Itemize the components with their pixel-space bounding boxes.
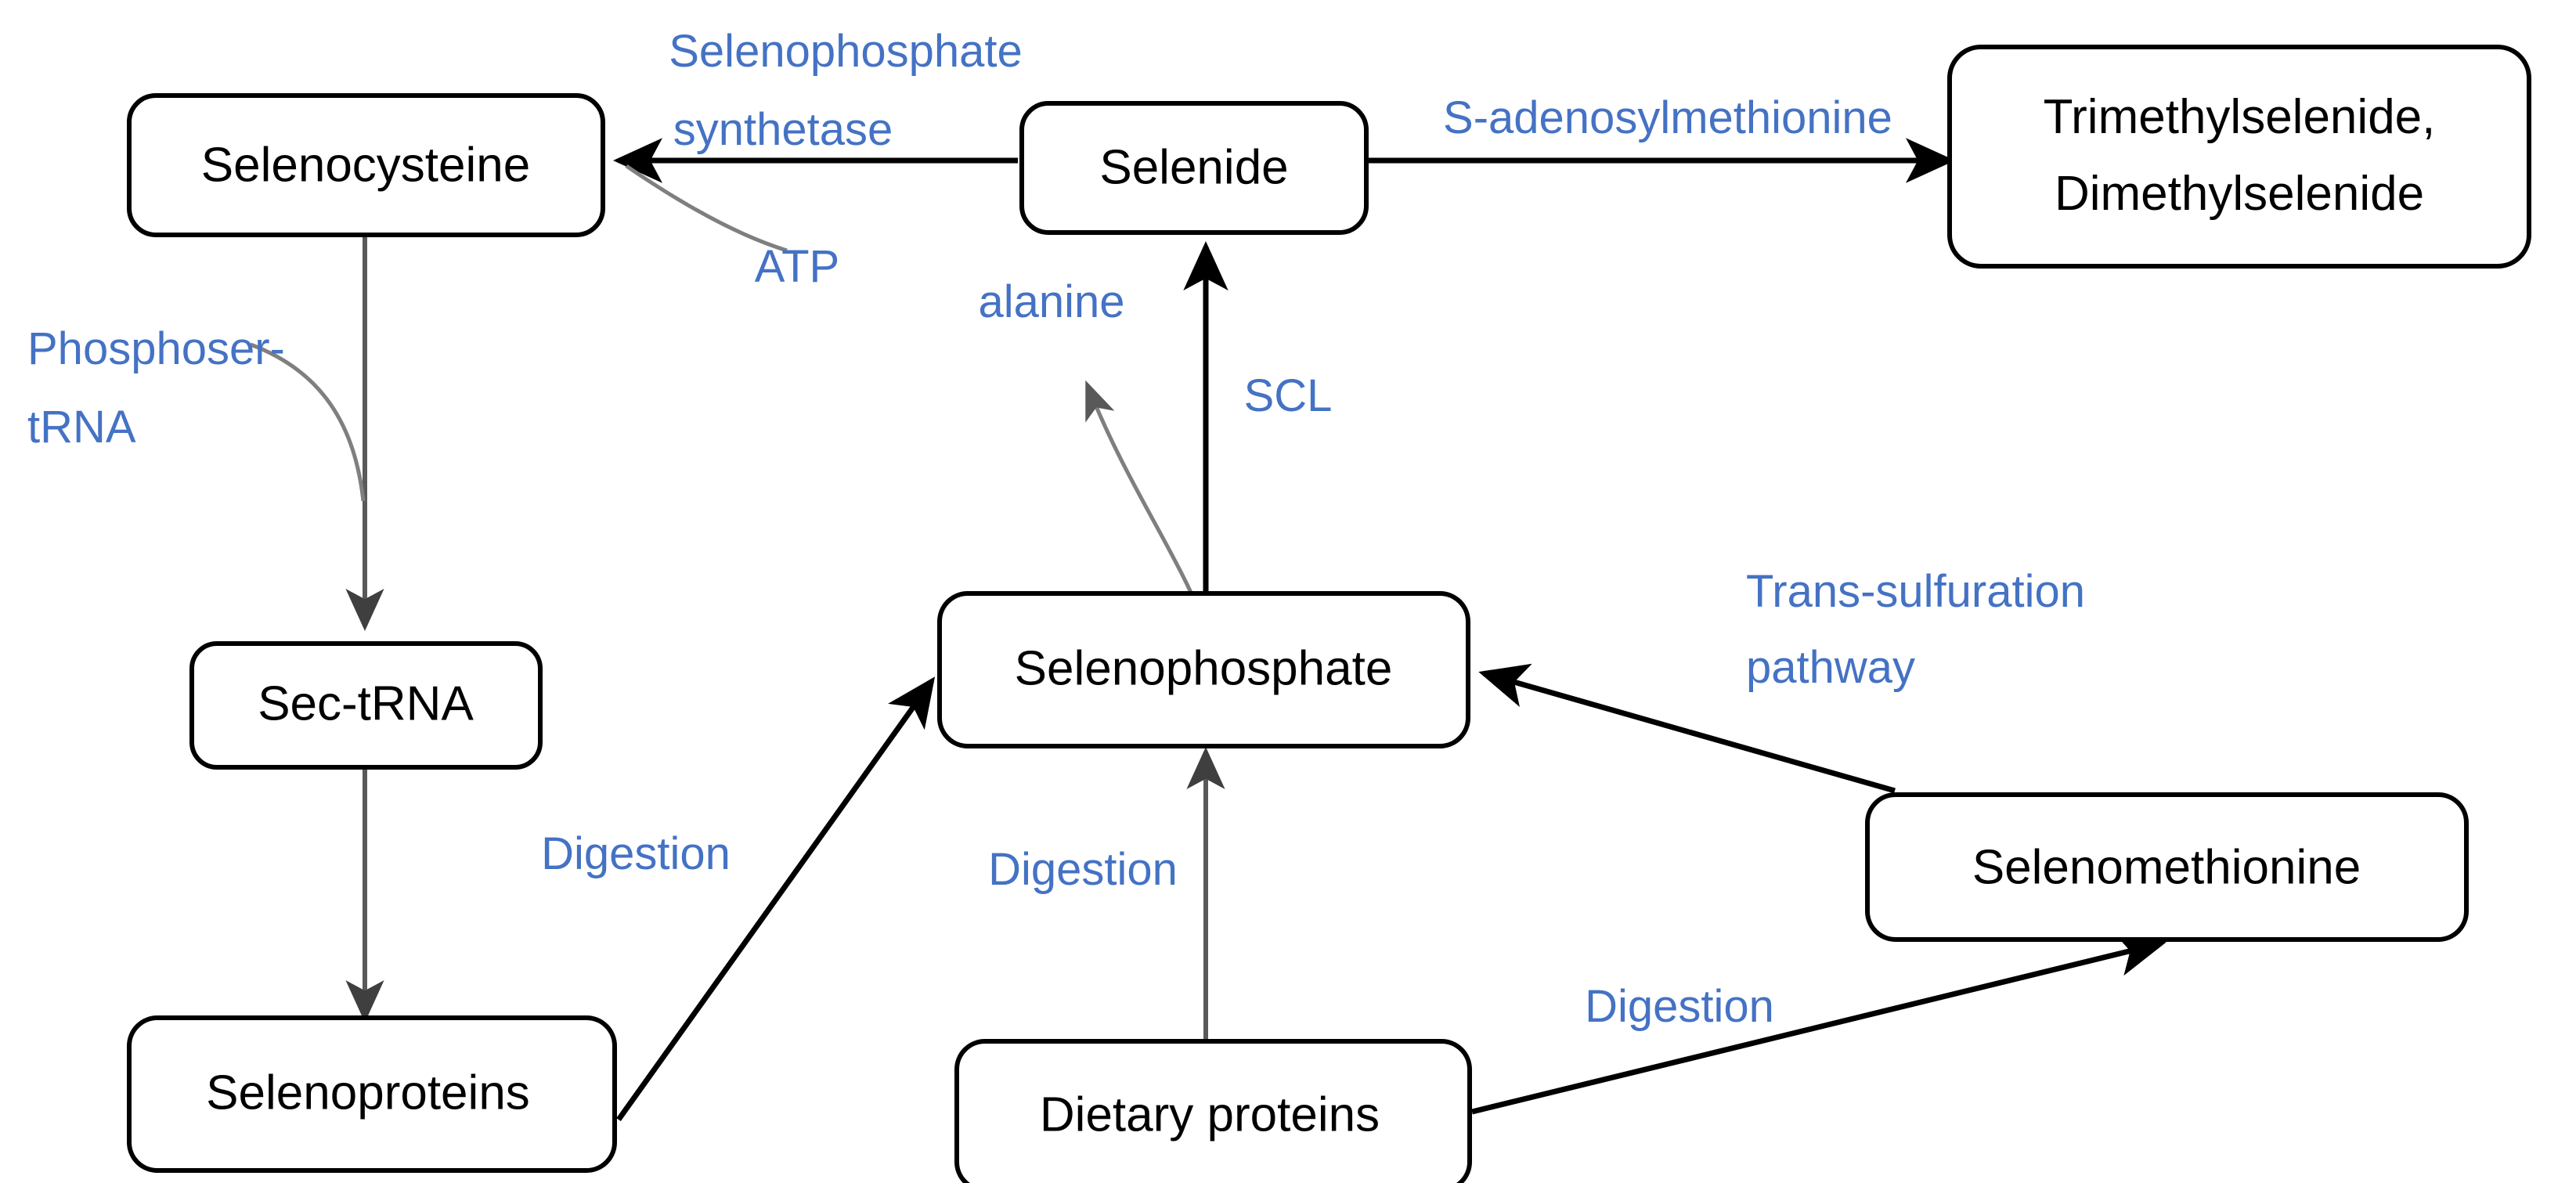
edge-label-trans-sulfuration-line1: Trans-sulfuration [1746, 566, 2085, 617]
edge-label-trans-sulfuration-line2: pathway [1746, 642, 1915, 693]
edge-label-phosphoser-trna-line1: Phosphoser- [27, 323, 285, 374]
edge-label-selenophosphate-synthetase-line1: Selenophosphate [669, 26, 1023, 77]
node-selenide[interactable]: Selenide [1022, 103, 1366, 233]
node-sec-trna[interactable]: Sec-tRNA [192, 644, 540, 767]
node-selenocysteine-label: Selenocysteine [201, 138, 531, 192]
node-trimethylselenide-label-line2: Dimethylselenide [2055, 167, 2424, 221]
edge-label-scl: SCL [1244, 370, 1333, 421]
node-dietary-proteins[interactable]: Dietary proteins [957, 1041, 1470, 1183]
edge-label-digestion-dietary: Digestion [988, 844, 1178, 895]
node-selenophosphate[interactable]: Selenophosphate [940, 593, 1468, 746]
node-selenomethionine[interactable]: Selenomethionine [1867, 795, 2466, 940]
edge-label-atp: ATP [755, 241, 840, 292]
node-selenophosphate-label: Selenophosphate [1015, 641, 1393, 695]
node-trimethylselenide[interactable]: Trimethylselenide, Dimethylselenide [1950, 47, 2529, 266]
edge-label-phosphoser-trna-line2: tRNA [27, 402, 136, 453]
edge-selenoproteins-to-selenophosphate [619, 681, 932, 1120]
node-dietary-proteins-label: Dietary proteins [1040, 1087, 1380, 1142]
node-selenocysteine[interactable]: Selenocysteine [129, 96, 603, 235]
node-trimethylselenide-label-line1: Trimethylselenide, [2044, 90, 2436, 144]
node-selenomethionine-label: Selenomethionine [1972, 840, 2361, 894]
node-sec-trna-label: Sec-tRNA [258, 676, 474, 730]
edge-label-digestion-selenomethionine: Digestion [1585, 981, 1774, 1032]
edge-alanine-curve [1088, 388, 1206, 626]
edge-label-s-adenosylmethionine: S-adenosylmethionine [1443, 92, 1892, 143]
edge-label-selenophosphate-synthetase-line2: synthetase [673, 104, 893, 155]
node-selenoproteins-label: Selenoproteins [206, 1066, 530, 1120]
node-trimethylselenide-box[interactable] [1950, 47, 2529, 266]
edge-atp-curve [626, 166, 787, 251]
pathway-canvas: Selenocysteine Selenide Trimethylselenid… [0, 0, 2576, 1183]
node-selenide-label: Selenide [1099, 140, 1288, 194]
node-selenoproteins[interactable]: Selenoproteins [129, 1018, 615, 1170]
edge-label-digestion-selenoproteins: Digestion [541, 828, 731, 879]
edge-dietary-to-selenomethionine [1472, 943, 2161, 1112]
pathway-diagram: Selenocysteine Selenide Trimethylselenid… [0, 0, 2576, 1183]
edge-label-alanine: alanine [978, 276, 1124, 327]
